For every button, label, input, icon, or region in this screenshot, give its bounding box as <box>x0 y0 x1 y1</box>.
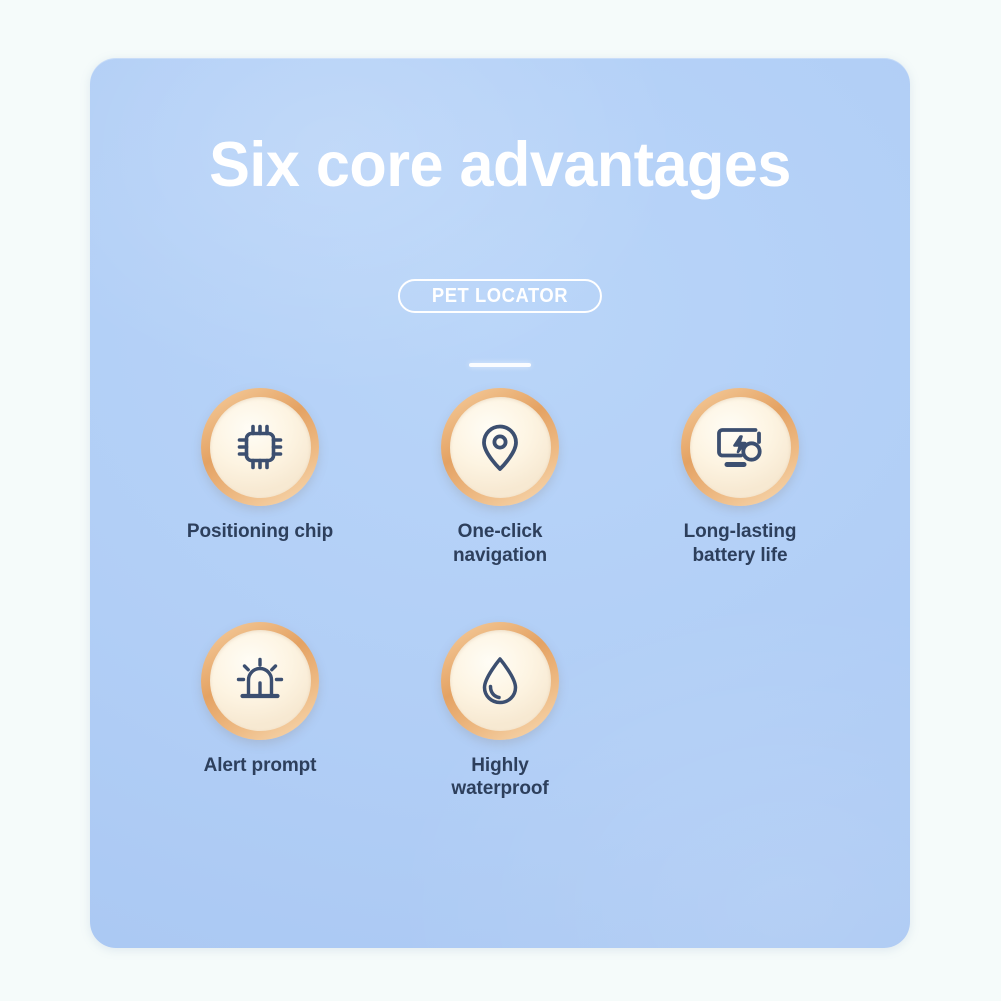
feature-row: Positioning chip <box>140 388 860 568</box>
icon-badge-inner <box>690 397 791 498</box>
feature-grid: Positioning chip <box>140 388 860 801</box>
icon-badge <box>441 622 559 740</box>
feature-row: Alert prompt <box>140 622 860 802</box>
feature-item-alert-prompt[interactable]: Alert prompt <box>140 622 380 802</box>
feature-label: Alert prompt <box>204 754 317 778</box>
feature-item-positioning-chip[interactable]: Positioning chip <box>140 388 380 568</box>
icon-badge <box>201 622 319 740</box>
feature-item-highly-waterproof[interactable]: Highly waterproof <box>380 622 620 802</box>
icon-badge <box>201 388 319 506</box>
icon-badge-inner <box>210 397 311 498</box>
icon-badge-inner <box>450 630 551 731</box>
feature-label: Positioning chip <box>187 520 333 544</box>
icon-badge-inner <box>210 630 311 731</box>
chip-icon <box>232 419 288 475</box>
feature-item-long-lasting-battery-life[interactable]: Long-lasting battery life <box>620 388 860 568</box>
icon-badge <box>681 388 799 506</box>
status-badge: PET LOCATOR <box>398 279 602 313</box>
siren-alert-icon <box>232 653 288 709</box>
icon-badge <box>441 388 559 506</box>
divider <box>469 363 531 367</box>
map-pin-icon <box>472 419 528 475</box>
feature-card: Six core advantages PET LOCATOR <box>90 58 910 948</box>
feature-item-one-click-navigation[interactable]: One-click navigation <box>380 388 620 568</box>
feature-label: One-click navigation <box>453 520 547 568</box>
battery-power-icon <box>711 418 769 476</box>
water-drop-icon <box>472 653 528 709</box>
status-badge-label: PET LOCATOR <box>432 285 568 308</box>
feature-label: Highly waterproof <box>451 754 548 802</box>
feature-label: Long-lasting battery life <box>684 520 797 568</box>
icon-badge-inner <box>450 397 551 498</box>
page-root: Six core advantages PET LOCATOR <box>0 0 1001 1001</box>
page-title: Six core advantages <box>102 134 897 197</box>
